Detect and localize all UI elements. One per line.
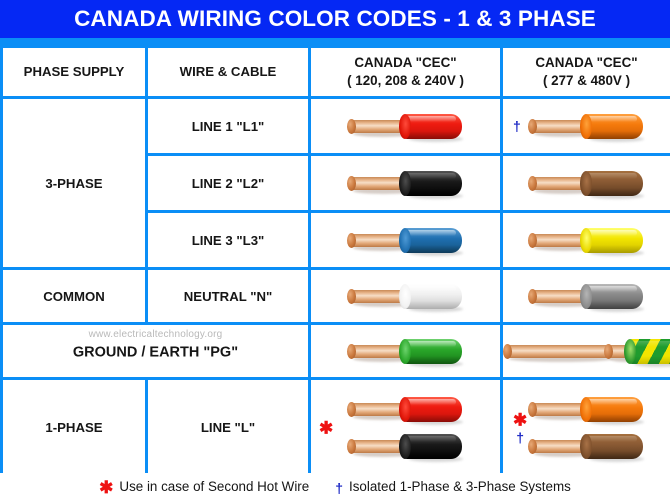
wire-cell-ground-120 xyxy=(310,324,502,379)
footer-notes: ✱ Use in case of Second Hot Wire † Isola… xyxy=(0,473,670,500)
row-label-line3: LINE 3 "L3" xyxy=(147,212,310,269)
ground-earth-text: GROUND / EARTH "PG" xyxy=(3,344,308,360)
footnote-asterisk-text: Use in case of Second Hot Wire xyxy=(119,479,309,494)
header-cec-120-208-240: CANADA "CEC" ( 120, 208 & 240V ) xyxy=(310,47,502,98)
asterisk-icon: ✱ xyxy=(99,479,113,496)
wire-cell-l2-277 xyxy=(502,155,670,212)
wire-cell-line-l-120: ✱ xyxy=(310,379,502,477)
wire-brown xyxy=(528,431,646,461)
table-header-row: PHASE SUPPLY WIRE & CABLE CANADA "CEC" (… xyxy=(2,47,670,98)
header-phase-supply: PHASE SUPPLY xyxy=(2,47,147,98)
asterisk-dagger-marks-line-l-277: ✱ † xyxy=(513,411,527,444)
title-accent-strip xyxy=(0,38,670,45)
page-title: CANADA WIRING COLOR CODES - 1 & 3 PHASE xyxy=(74,6,596,32)
wire-cell-l3-277 xyxy=(502,212,670,269)
wire-cell-line-l-277: ✱ † xyxy=(502,379,670,477)
page-title-bar: CANADA WIRING COLOR CODES - 1 & 3 PHASE xyxy=(0,0,670,38)
row-label-line-l: LINE "L" xyxy=(147,379,310,477)
header-wire-cable: WIRE & CABLE xyxy=(147,47,310,98)
wire-grey xyxy=(528,281,646,311)
wiring-color-table-wrap: PHASE SUPPLY WIRE & CABLE CANADA "CEC" (… xyxy=(0,45,670,473)
wire-orange xyxy=(528,394,646,424)
wire-red xyxy=(347,111,465,141)
table-row: COMMON NEUTRAL "N" xyxy=(2,269,670,324)
wire-cell-l3-120 xyxy=(310,212,502,269)
asterisk-mark-line-l-120: ✱ xyxy=(319,419,333,436)
row-label-line1: LINE 1 "L1" xyxy=(147,98,310,155)
wire-cell-neutral-277 xyxy=(502,269,670,324)
wire-white xyxy=(347,281,465,311)
row-label-1-phase: 1-PHASE xyxy=(2,379,147,477)
wire-cell-l2-120 xyxy=(310,155,502,212)
row-label-3-phase: 3-PHASE xyxy=(2,98,147,269)
footnote-dagger: † Isolated 1-Phase & 3-Phase Systems xyxy=(335,479,571,494)
wire-red xyxy=(347,394,465,424)
row-label-common: COMMON xyxy=(2,269,147,324)
table-row: 3-PHASE LINE 1 "L1" † xyxy=(2,98,670,155)
row-label-line2: LINE 2 "L2" xyxy=(147,155,310,212)
wire-cell-l1-120 xyxy=(310,98,502,155)
table-row: www.electricaltechnology.org GROUND / EA… xyxy=(2,324,670,379)
footnote-asterisk: ✱ Use in case of Second Hot Wire xyxy=(99,478,309,495)
row-label-neutral: NEUTRAL "N" xyxy=(147,269,310,324)
row-label-ground-earth: www.electricaltechnology.org GROUND / EA… xyxy=(2,324,310,379)
dagger-mark-l1: † xyxy=(513,119,521,133)
wire-blue xyxy=(347,225,465,255)
wiring-color-table: PHASE SUPPLY WIRE & CABLE CANADA "CEC" (… xyxy=(0,45,670,478)
footnote-dagger-text: Isolated 1-Phase & 3-Phase Systems xyxy=(349,479,571,494)
site-watermark-text: www.electricaltechnology.org xyxy=(3,329,308,340)
header-cec-120-line2: ( 120, 208 & 240V ) xyxy=(311,72,500,90)
wire-green-yellow-stripe xyxy=(604,336,670,366)
wire-cell-ground-277 xyxy=(502,324,670,379)
wire-black xyxy=(347,431,465,461)
dagger-icon: † xyxy=(335,481,343,495)
wire-cell-l1-277: † xyxy=(502,98,670,155)
header-cec-120-line1: CANADA "CEC" xyxy=(311,54,500,72)
header-cec-277-line1: CANADA "CEC" xyxy=(503,54,670,72)
header-cec-277-480: CANADA "CEC" ( 277 & 480V ) xyxy=(502,47,670,98)
wire-bare-copper xyxy=(503,336,596,366)
wire-black xyxy=(347,168,465,198)
wire-brown xyxy=(528,168,646,198)
wire-cell-neutral-120 xyxy=(310,269,502,324)
wire-orange xyxy=(528,111,646,141)
header-cec-277-line2: ( 277 & 480V ) xyxy=(503,72,670,90)
table-row: 1-PHASE LINE "L" ✱ xyxy=(2,379,670,477)
wire-green xyxy=(347,336,465,366)
wire-yellow xyxy=(528,225,646,255)
